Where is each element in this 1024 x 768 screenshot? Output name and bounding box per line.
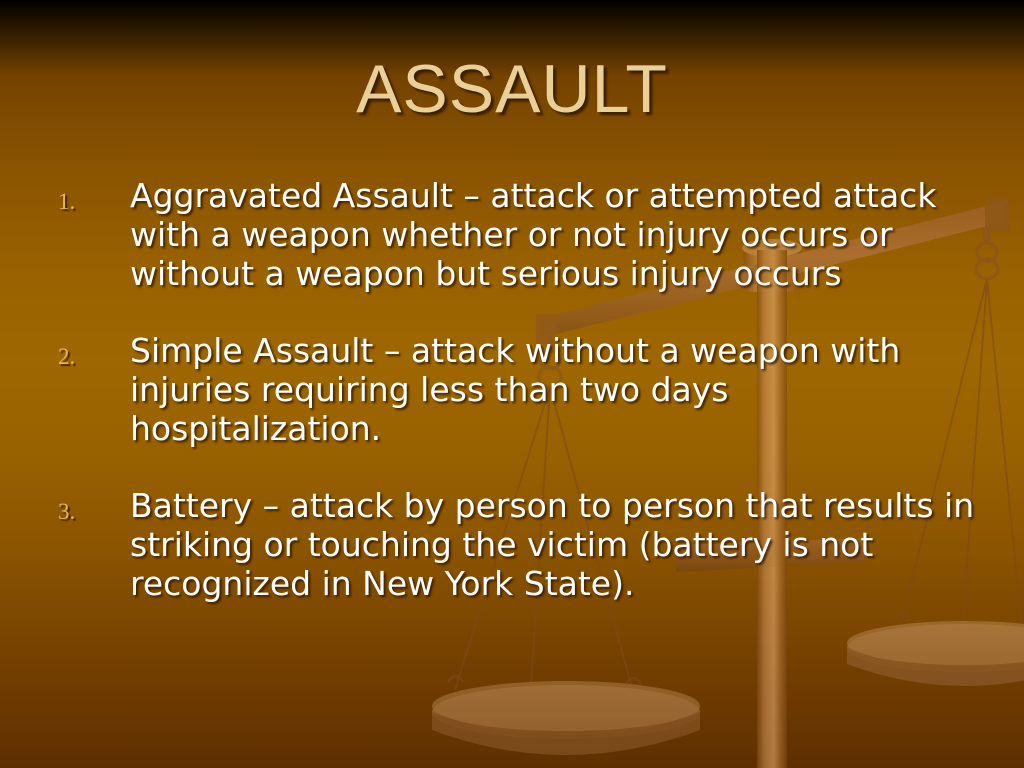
- numbered-list: 1. Aggravated Assault – attack or attemp…: [52, 176, 982, 603]
- list-item: 3. Battery – attack by person to person …: [52, 486, 982, 603]
- list-item-marker: 2.: [58, 345, 114, 368]
- slide-title: ASSAULT: [0, 52, 1024, 126]
- list-item: 1. Aggravated Assault – attack or attemp…: [52, 176, 982, 293]
- list-item-text: Simple Assault – attack without a weapon…: [130, 331, 900, 448]
- presentation-slide: ASSAULT 1. Aggravated Assault – attack o…: [0, 0, 1024, 768]
- list-item: 2. Simple Assault – attack without a wea…: [52, 331, 982, 448]
- list-item-text: Aggravated Assault – attack or attempted…: [130, 176, 936, 293]
- list-item-text: Battery – attack by person to person tha…: [130, 486, 974, 603]
- list-item-marker: 3.: [58, 500, 114, 523]
- list-item-marker: 1.: [58, 190, 114, 213]
